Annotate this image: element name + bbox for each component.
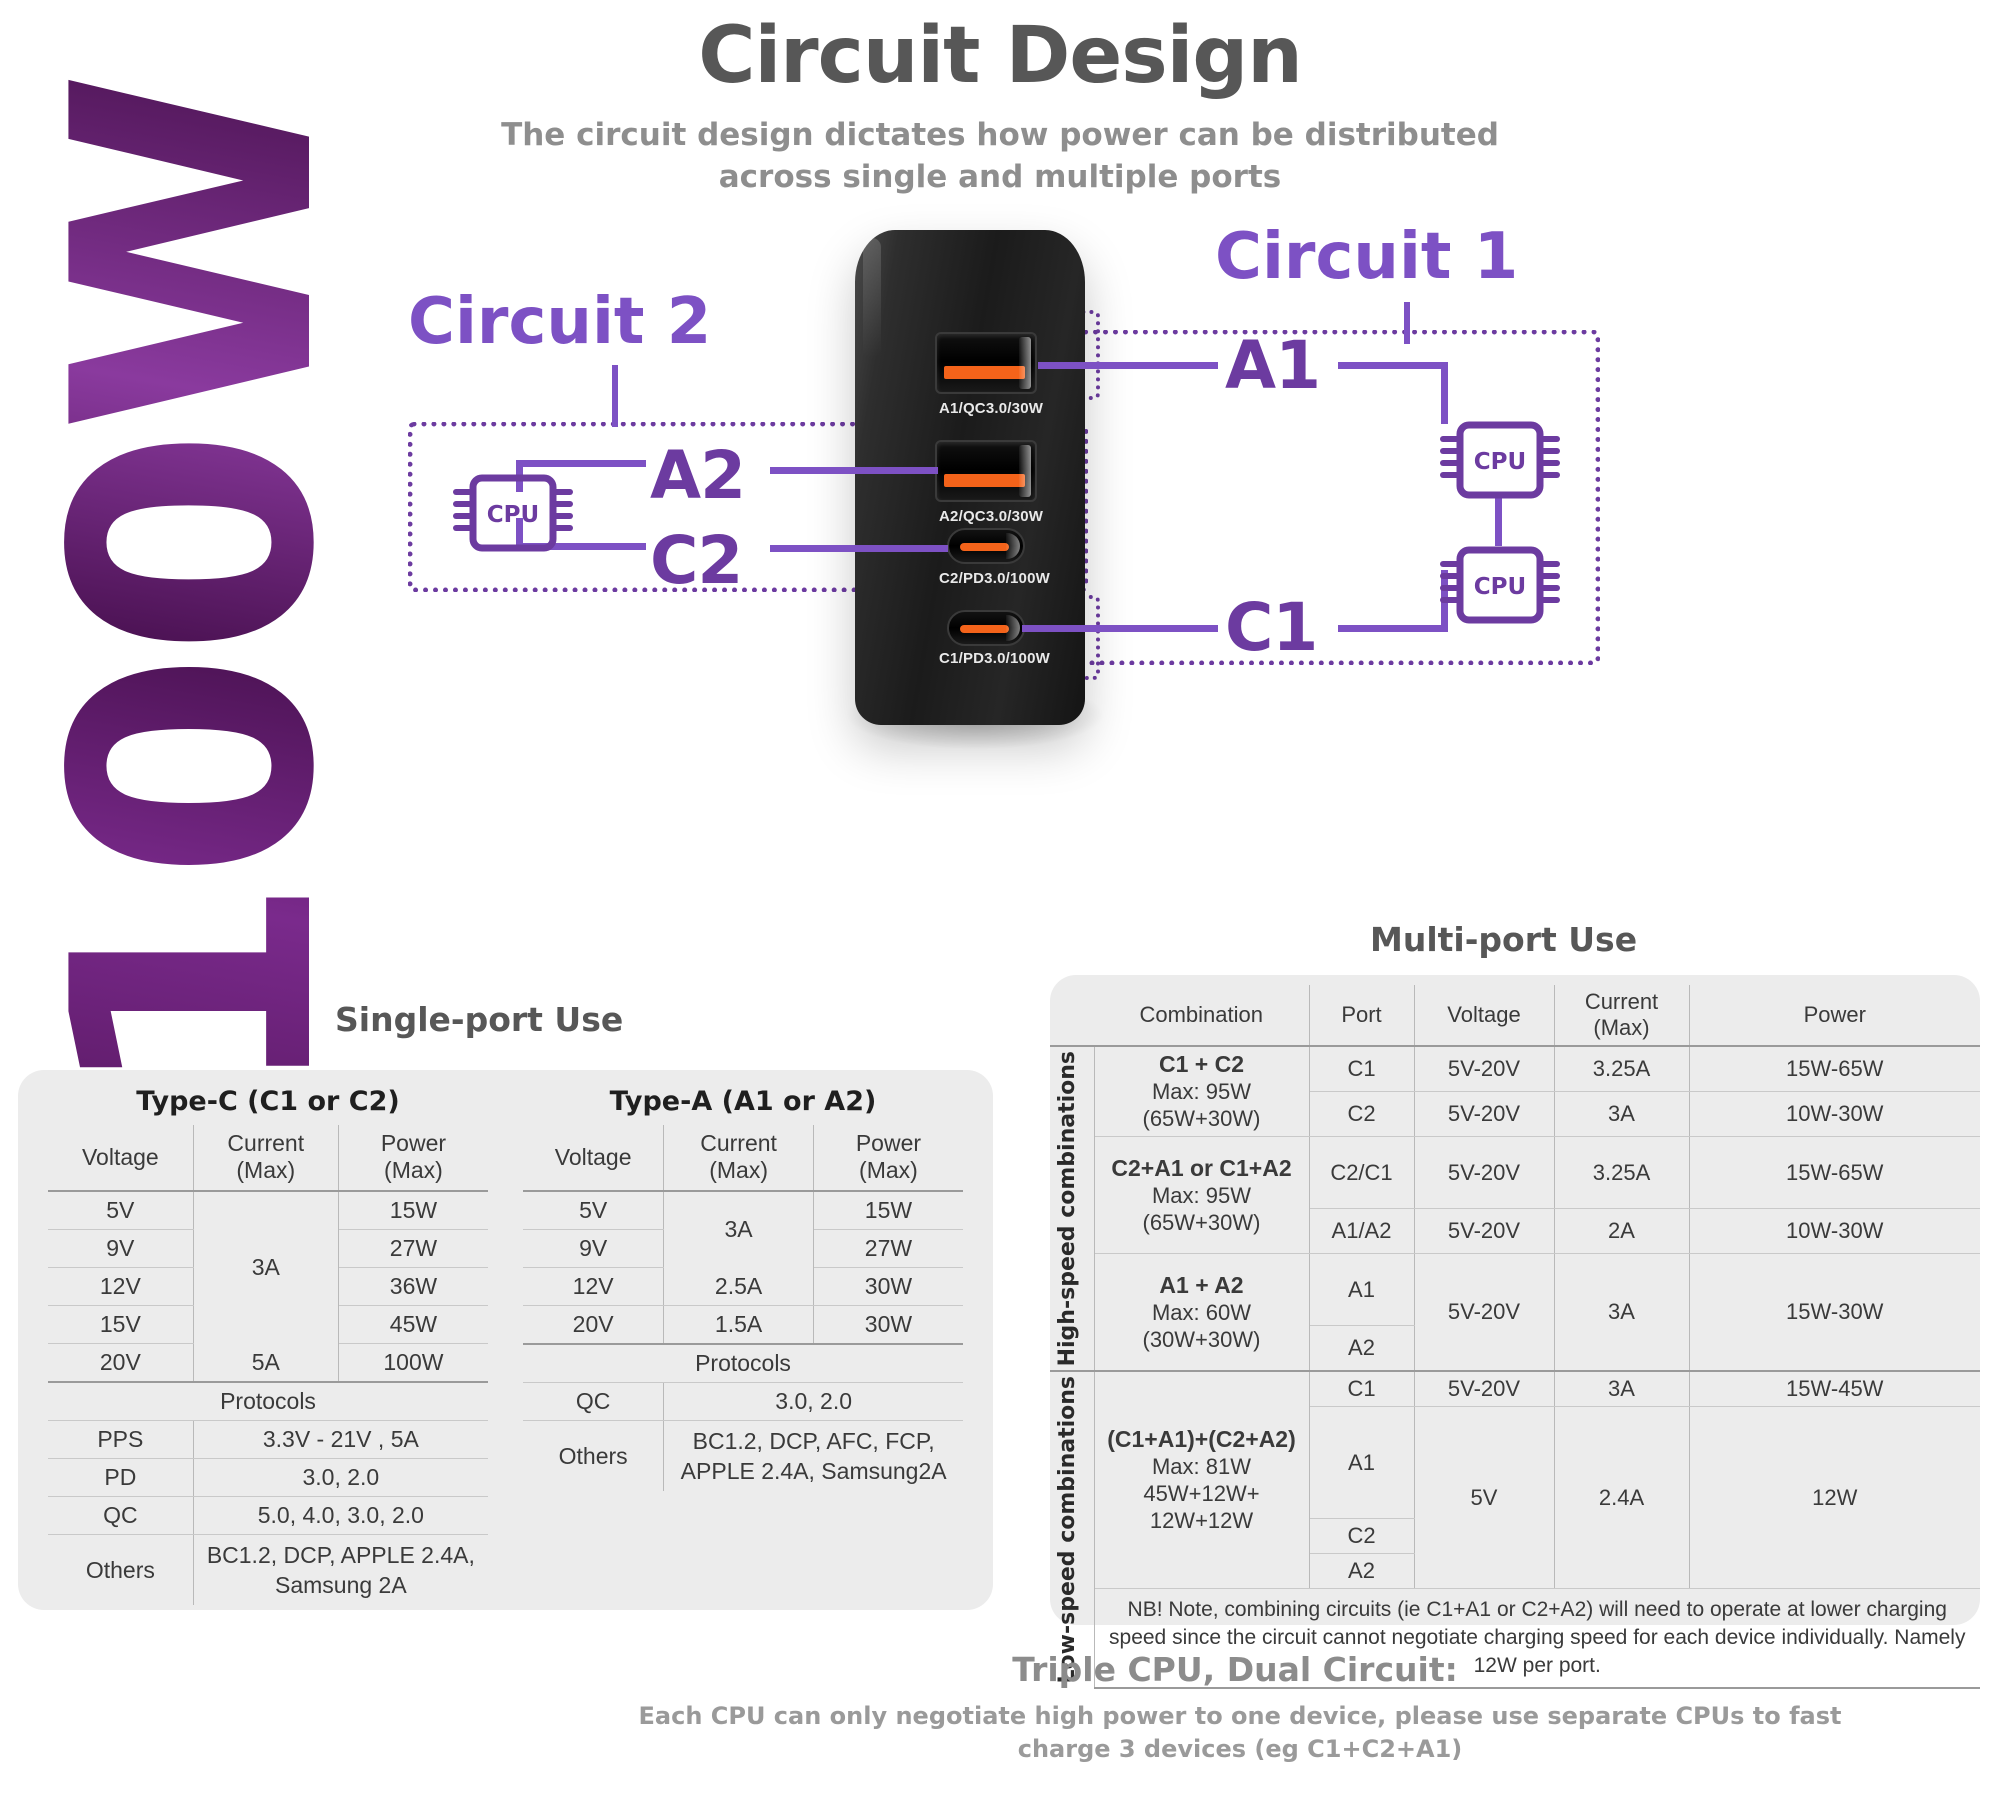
cell-current: 3A (1554, 1371, 1689, 1407)
cell-power: 15W-65W (1689, 1046, 1980, 1092)
type-c-table: Voltage Current (Max) Power (Max) 5V 3A … (48, 1125, 488, 1605)
combination-cell: (C1+A1)+(C2+A2) Max: 81W 45W+12W+ 12W+12… (1094, 1371, 1309, 1588)
cell-voltage: 5V-20V (1414, 1209, 1554, 1254)
th-power-line1: Power (818, 1130, 959, 1157)
th-current-line1: Current (1560, 989, 1684, 1015)
group-label-high-speed-text: High-speed combinations (1055, 1051, 1081, 1366)
th-voltage: Voltage (1414, 985, 1554, 1046)
th-current-line2: (Max) (1560, 1015, 1684, 1041)
th-current: Current (Max) (193, 1125, 338, 1191)
th-current-line2: (Max) (668, 1157, 809, 1184)
cell-current: 3.25A (1554, 1137, 1689, 1209)
th-power: Power (Max) (338, 1125, 488, 1191)
protocol-name: Others (48, 1535, 193, 1606)
table-row: Others BC1.2, DCP, AFC, FCP, APPLE 2.4A,… (523, 1421, 963, 1492)
a1-tongue (944, 366, 1025, 379)
cell-power: 15W-65W (1689, 1137, 1980, 1209)
cell-voltage: 5V-20V (1414, 1092, 1554, 1137)
table-row: C2+A1 or C1+A2 Max: 95W (65W+30W) C2/C1 … (1050, 1137, 1980, 1209)
combination-cell: C2+A1 or C1+A2 Max: 95W (65W+30W) (1094, 1137, 1309, 1254)
c1-connector (1022, 625, 1218, 632)
cell-voltage: 20V (523, 1306, 664, 1345)
protocols-header-row: Protocols (523, 1344, 963, 1383)
table-row: Others BC1.2, DCP, APPLE 2.4A, Samsung 2… (48, 1535, 488, 1606)
th-voltage: Voltage (523, 1125, 664, 1191)
cell-voltage: 5V-20V (1414, 1046, 1554, 1092)
cell-voltage: 12V (48, 1268, 193, 1306)
table-row: 5V 3A 15W (48, 1191, 488, 1230)
table-row: 20V 5A 100W (48, 1344, 488, 1383)
cell-voltage: 5V (523, 1191, 664, 1230)
cell-current-3a: 3A (193, 1191, 338, 1344)
cell-power: 36W (338, 1268, 488, 1306)
cell-current: 3A (1554, 1254, 1689, 1372)
cell-power: 15W-45W (1689, 1371, 1980, 1407)
cell-voltage: 5V (48, 1191, 193, 1230)
cell-power: 10W-30W (1689, 1209, 1980, 1254)
protocols-header: Protocols (48, 1382, 488, 1421)
page-subtitle: The circuit design dictates how power ca… (490, 114, 1510, 198)
a1-connector (1038, 362, 1218, 369)
cell-port: A2 (1309, 1326, 1414, 1372)
table-row: PD 3.0, 2.0 (48, 1459, 488, 1497)
multi-port-card: Combination Port Voltage Current (Max) P… (1050, 975, 1980, 1625)
protocol-value: 3.0, 2.0 (193, 1459, 488, 1497)
cell-power: 27W (813, 1230, 963, 1268)
protocol-value: BC1.2, DCP, APPLE 2.4A, Samsung 2A (193, 1535, 488, 1606)
type-a-title: Type-A (A1 or A2) (523, 1086, 963, 1125)
combination-title: C2+A1 or C1+A2 (1111, 1155, 1291, 1181)
a1-glare (1019, 337, 1031, 389)
protocol-value: 5.0, 4.0, 3.0, 2.0 (193, 1497, 488, 1535)
svg-text:CPU: CPU (1474, 449, 1526, 475)
label-c2: C2 (650, 528, 742, 594)
table-header-row: Voltage Current (Max) Power (Max) (523, 1125, 963, 1191)
cell-current: 1.5A (664, 1306, 814, 1345)
th-voltage: Voltage (48, 1125, 193, 1191)
combination-line2: Max: 95W (1152, 1079, 1251, 1104)
cell-power: 27W (338, 1230, 488, 1268)
protocols-header-row: Protocols (48, 1382, 488, 1421)
table-header-row: Voltage Current (Max) Power (Max) (48, 1125, 488, 1191)
cell-current: 3A (1554, 1092, 1689, 1137)
table-row: 12V 2.5A 30W (523, 1268, 963, 1306)
a2-glare (1019, 445, 1031, 497)
a2-tongue (944, 474, 1025, 487)
protocol-value: 3.0, 2.0 (664, 1383, 963, 1421)
port-a1 (935, 332, 1037, 394)
a2-connector (770, 467, 938, 474)
cpu-icon-circuit1-bottom: CPU (1435, 540, 1565, 630)
protocol-value: 3.3V - 21V , 5A (193, 1421, 488, 1459)
cell-voltage: 5V-20V (1414, 1137, 1554, 1209)
port-a2-caption: A2/QC3.0/30W (939, 508, 1043, 525)
table-row: 5V 3A 15W (523, 1191, 963, 1230)
cell-power: 10W-30W (1689, 1092, 1980, 1137)
combination-line3: 45W+12W+ (1143, 1481, 1259, 1506)
cell-port: C1 (1309, 1046, 1414, 1092)
cell-port: C2 (1309, 1092, 1414, 1137)
combination-cell: C1 + C2 Max: 95W (65W+30W) (1094, 1046, 1309, 1137)
group-label-low-speed: Low-speed combinations (1050, 1371, 1094, 1687)
table-header-row: Combination Port Voltage Current (Max) P… (1050, 985, 1980, 1046)
cell-port: C2/C1 (1309, 1137, 1414, 1209)
cell-port: A1/A2 (1309, 1209, 1414, 1254)
th-current: Current (Max) (664, 1125, 814, 1191)
combination-title: (C1+A1)+(C2+A2) (1107, 1426, 1296, 1452)
protocol-name: Others (523, 1421, 664, 1492)
protocol-value: BC1.2, DCP, AFC, FCP, APPLE 2.4A, Samsun… (664, 1421, 963, 1492)
table-row: QC 5.0, 4.0, 3.0, 2.0 (48, 1497, 488, 1535)
th-current-line2: (Max) (198, 1157, 334, 1184)
cell-power: 45W (338, 1306, 488, 1344)
protocol-name: PPS (48, 1421, 193, 1459)
svg-text:CPU: CPU (487, 502, 539, 528)
cell-port: A2 (1309, 1553, 1414, 1588)
circuit-diagram: A1/QC3.0/30W A2/QC3.0/30W C2/PD3.0/100W … (0, 210, 2000, 970)
cell-voltage: 5V (1414, 1407, 1554, 1588)
cell-voltage: 9V (48, 1230, 193, 1268)
th-power-line2: (Max) (818, 1157, 959, 1184)
c1-glare (1006, 615, 1020, 641)
cpu-link-circuit1 (1495, 498, 1502, 546)
protocol-name: QC (523, 1383, 664, 1421)
label-c1: C1 (1225, 595, 1317, 661)
cell-voltage: 12V (523, 1268, 664, 1306)
th-port: Port (1309, 985, 1414, 1046)
cell-current: 3.25A (1554, 1046, 1689, 1092)
cell-power: 15W (338, 1191, 488, 1230)
cell-port: C2 (1309, 1518, 1414, 1553)
combination-title: A1 + A2 (1159, 1272, 1243, 1298)
svg-text:CPU: CPU (1474, 574, 1526, 600)
c1-tongue (960, 625, 1009, 633)
th-power: Power (Max) (813, 1125, 963, 1191)
table-row: High-speed combinations C1 + C2 Max: 95W… (1050, 1046, 1980, 1092)
circuit2-title: Circuit 2 (408, 290, 711, 354)
table-row: PPS 3.3V - 21V , 5A (48, 1421, 488, 1459)
th-power-line2: (Max) (343, 1157, 484, 1184)
cell-current: 2.4A (1554, 1407, 1689, 1588)
cell-voltage: 9V (523, 1230, 664, 1268)
label-a1: A1 (1225, 333, 1320, 399)
cell-power: 12W (1689, 1407, 1980, 1588)
port-c2-caption: C2/PD3.0/100W (939, 570, 1050, 587)
combination-line3: (65W+30W) (1143, 1210, 1261, 1235)
th-current: Current (Max) (1554, 985, 1689, 1046)
type-c-title: Type-C (C1 or C2) (48, 1086, 488, 1125)
combination-line2: Max: 60W (1152, 1300, 1251, 1325)
cell-current: 2A (1554, 1209, 1689, 1254)
protocol-name: PD (48, 1459, 193, 1497)
cell-current: 5A (193, 1344, 338, 1383)
cell-port: C1 (1309, 1371, 1414, 1407)
cell-port: A1 (1309, 1254, 1414, 1326)
table-row: 20V 1.5A 30W (523, 1306, 963, 1345)
page-title: Circuit Design (370, 8, 1630, 104)
page-header: Circuit Design The circuit design dictat… (370, 8, 1630, 198)
th-power: Power (1689, 985, 1980, 1046)
single-port-card: Type-C (C1 or C2) Voltage Current (Max) … (18, 1070, 993, 1610)
cell-current-3a: 3A (664, 1191, 814, 1268)
cell-current: 2.5A (664, 1268, 814, 1306)
protocols-header: Protocols (523, 1344, 963, 1383)
cpu-icon-circuit2: CPU (448, 468, 578, 558)
cell-voltage: 15V (48, 1306, 193, 1344)
footer-title: Triple CPU, Dual Circuit: (500, 1650, 1970, 1689)
port-a2 (935, 440, 1037, 502)
footer-text: Each CPU can only negotiate high power t… (620, 1700, 1860, 1766)
combination-cell: A1 + A2 Max: 60W (30W+30W) (1094, 1254, 1309, 1372)
combination-line2: Max: 81W (1152, 1454, 1251, 1479)
th-power-line1: Power (343, 1130, 484, 1157)
table-row: A1 + A2 Max: 60W (30W+30W) A1 5V-20V 3A … (1050, 1254, 1980, 1326)
c2-connector (770, 545, 948, 552)
th-current-line1: Current (198, 1130, 334, 1157)
cell-power: 15W-30W (1689, 1254, 1980, 1372)
cell-voltage: 20V (48, 1344, 193, 1383)
group-col-header (1050, 985, 1094, 1046)
type-a-table: Voltage Current (Max) Power (Max) 5V 3A … (523, 1125, 963, 1491)
a1-bus-h (1338, 362, 1448, 369)
cell-port: A1 (1309, 1407, 1414, 1518)
c1-bus-h (1338, 625, 1448, 632)
th-current-line1: Current (668, 1130, 809, 1157)
th-combination: Combination (1094, 985, 1309, 1046)
cell-power: 30W (813, 1306, 963, 1345)
cell-power: 100W (338, 1344, 488, 1383)
group-label-low-speed-text: Low-speed combinations (1055, 1376, 1081, 1683)
cell-power: 15W (813, 1191, 963, 1230)
port-c1-caption: C1/PD3.0/100W (939, 650, 1050, 667)
label-a2: A2 (650, 443, 745, 509)
c2-glare (1006, 533, 1020, 559)
table-row: Low-speed combinations (C1+A1)+(C2+A2) M… (1050, 1371, 1980, 1407)
circuit1-stem (1404, 302, 1410, 344)
cell-voltage: 5V-20V (1414, 1371, 1554, 1407)
circuit1-title: Circuit 1 (1215, 225, 1518, 289)
cpu-icon-circuit1-top: CPU (1435, 415, 1565, 505)
multi-port-table: Combination Port Voltage Current (Max) P… (1050, 985, 1980, 1689)
protocol-name: QC (48, 1497, 193, 1535)
combination-title: C1 + C2 (1159, 1051, 1244, 1077)
port-c2 (947, 528, 1025, 564)
c2-tongue (960, 543, 1009, 551)
port-c1 (947, 610, 1025, 646)
cell-power: 30W (813, 1268, 963, 1306)
combination-line4: 12W+12W (1150, 1508, 1253, 1533)
combination-line3: (30W+30W) (1143, 1327, 1261, 1352)
group-label-high-speed: High-speed combinations (1050, 1046, 1094, 1371)
port-a1-caption: A1/QC3.0/30W (939, 400, 1043, 417)
cell-voltage: 5V-20V (1414, 1254, 1554, 1372)
multi-port-heading: Multi-port Use (1370, 920, 1637, 959)
table-row: QC 3.0, 2.0 (523, 1383, 963, 1421)
a2-bus-h (516, 460, 646, 467)
single-port-heading: Single-port Use (335, 1000, 623, 1039)
circuit2-stem (612, 365, 618, 427)
combination-line3: (65W+30W) (1143, 1106, 1261, 1131)
combination-line2: Max: 95W (1152, 1183, 1251, 1208)
